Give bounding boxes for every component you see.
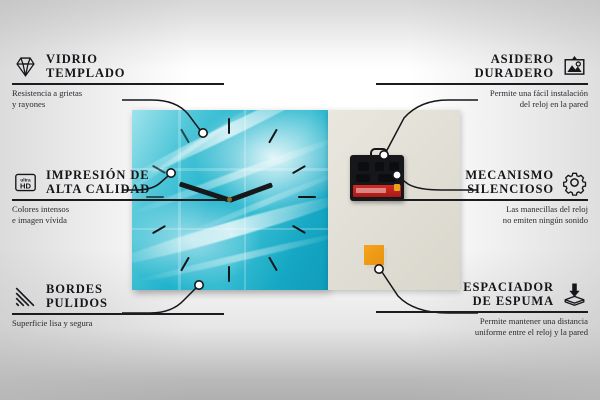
feature-title: ASIDERO DURADERO [475,52,554,80]
feature-title: BORDES PULIDOS [46,282,108,310]
diamond-icon [12,53,39,80]
infographic-canvas: VIDRIO TEMPLADO Resistencia a grietas y … [0,0,600,400]
picture-hanger-icon [561,53,588,80]
feature-subtitle: Las manecillas del reloj no emiten ningú… [376,204,588,225]
feature-subtitle: Colores intensos e imagen vívida [12,204,224,225]
feature-divider [376,83,588,85]
foam-spacer-sample [364,245,384,265]
feature-subtitle: Resistencia a grietas y rayones [12,88,224,109]
feature-divider [376,199,588,201]
clock-pivot [227,197,232,202]
feature-divider [12,313,224,315]
feature-title: IMPRESIÓN DE ALTA CALIDAD [46,168,150,196]
feature-espaciador-de-espuma: ESPACIADOR DE ESPUMA Permite mantener un… [376,280,588,337]
feature-divider [12,83,224,85]
ultra-hd-icon: ultra HD [12,169,39,196]
polished-edges-icon [12,283,39,310]
feature-title: ESPACIADOR DE ESPUMA [463,280,554,308]
feature-mecanismo-silencioso: MECANISMO SILENCIOSO Las manecillas del … [376,168,588,225]
feature-impresion-alta-calidad: ultra HD IMPRESIÓN DE ALTA CALIDAD Color… [12,168,224,225]
feature-vidrio-templado: VIDRIO TEMPLADO Resistencia a grietas y … [12,52,224,109]
feature-subtitle: Permite una fácil instalación del reloj … [376,88,588,109]
feature-divider [376,311,588,313]
feature-title: VIDRIO TEMPLADO [46,52,125,80]
foam-spacer-icon [561,281,588,308]
gear-icon [561,169,588,196]
feature-subtitle: Superficie lisa y segura [12,318,224,329]
feature-subtitle: Permite mantener una distancia uniforme … [376,316,588,337]
feature-bordes-pulidos: BORDES PULIDOS Superficie lisa y segura [12,282,224,329]
svg-text:HD: HD [20,181,31,190]
feature-asidero-duradero: ASIDERO DURADERO Permite una fácil insta… [376,52,588,109]
feature-title: MECANISMO SILENCIOSO [465,168,554,196]
feature-divider [12,199,224,201]
